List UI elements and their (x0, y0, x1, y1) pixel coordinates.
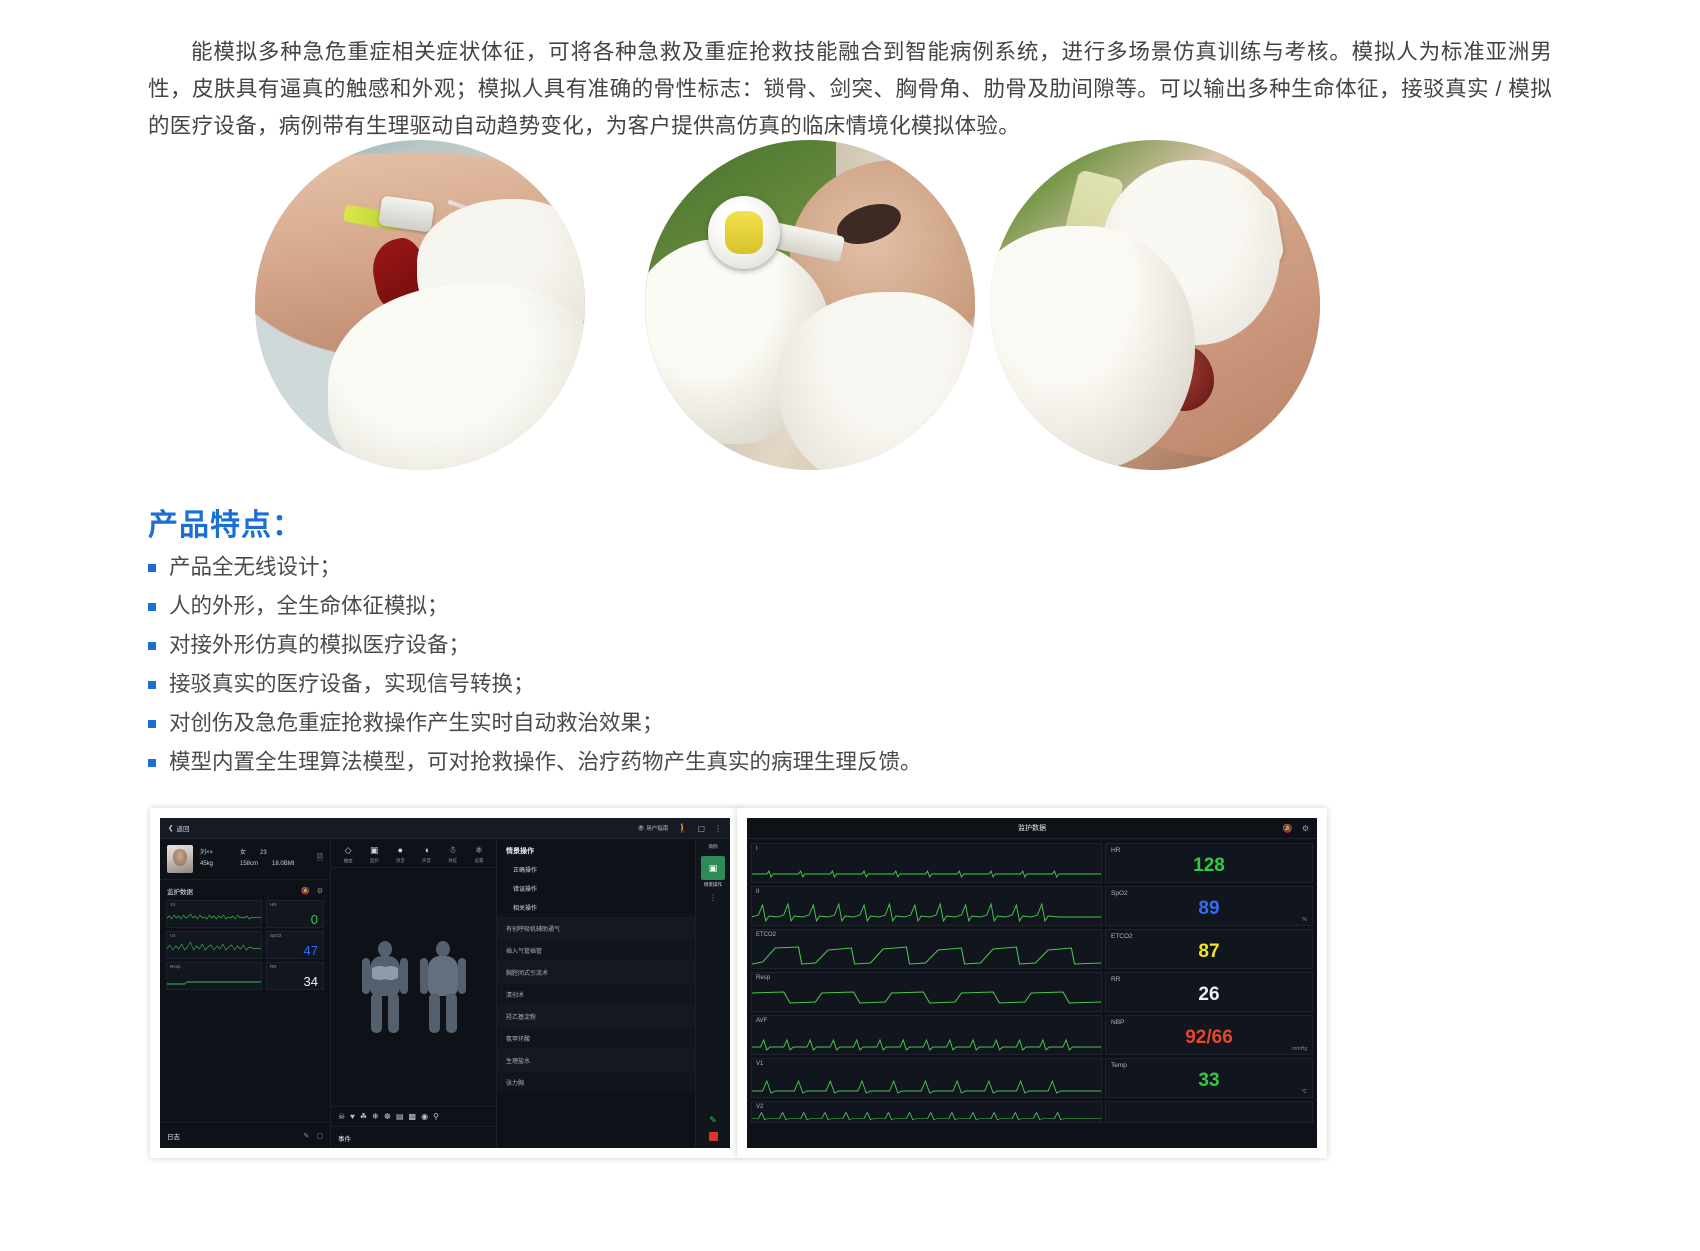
vital-value: 0 (311, 912, 318, 927)
vitals-row: V1 HR 0 (166, 900, 324, 928)
vital-etco2: ETCO2 87 (1105, 929, 1313, 969)
monitor-header: 监护数据 🔕 ⚙ (747, 818, 1317, 839)
tool-button[interactable]: ⚛ 设置 (468, 846, 490, 864)
feature-text: 对接外形仿真的模拟医疗设备； (169, 626, 470, 665)
vital-rr: RR 34 (266, 962, 324, 990)
feature-item: 对创伤及急危重症抢救操作产生实时自动救治效果； (148, 704, 1048, 743)
organ-icon[interactable]: ☸ (384, 1112, 391, 1121)
tool-label: 声音 (422, 858, 431, 864)
operation-item[interactable]: 羟乙基淀粉 (497, 1005, 695, 1027)
left-app-screen: ❮ 返回 ? 用户指南 🚶 ▢ ⋮ (160, 818, 730, 1148)
waveform-lead-i: I (751, 843, 1102, 883)
skull-icon[interactable]: ☠ (338, 1112, 345, 1121)
gear2-icon: ⚛ (475, 846, 483, 855)
patient-avatar (167, 845, 193, 873)
bullet-icon (148, 720, 156, 728)
monitor-row: Resp RR 26 (751, 972, 1313, 1012)
tablet-icon[interactable]: ▢ (697, 824, 705, 833)
lung-icon[interactable]: ☘ (360, 1112, 367, 1121)
waveform-v2: V2 (166, 931, 262, 959)
waveform-lead-ii: II (751, 886, 1102, 926)
nerve-icon[interactable]: ⚲ (433, 1112, 439, 1121)
bell-off-icon[interactable]: 🔕 (301, 887, 310, 895)
feature-item: 对接外形仿真的模拟医疗设备； (148, 626, 1048, 665)
edit-green-icon[interactable]: ✎ (696, 1115, 730, 1126)
organ-icon-row: ☠ ♥ ☘ ❄ ☸ ▤ ▩ ◉ ⚲ (331, 1106, 496, 1126)
intro-paragraph: 能模拟多种急危重症相关症状体征，可将各种急救及重症抢救技能融合到智能病例系统，进… (148, 34, 1552, 145)
vital-unit: ℃ (1301, 1089, 1307, 1095)
scenario-group-related[interactable]: 相关操作 (497, 898, 695, 917)
manikin-icon[interactable]: 🚶 (677, 823, 688, 834)
tool-button[interactable]: ◖ 声音 (416, 846, 438, 864)
eye-icon[interactable]: ◉ (421, 1112, 428, 1121)
feature-item: 接驳真实的医疗设备，实现信号转换； (148, 665, 1048, 704)
feature-item: 人的外形，全生命体征模拟； (148, 587, 1048, 626)
vital-label: SpO2 (270, 933, 282, 938)
user-guide-label: 用户指南 (646, 824, 668, 832)
expand-icon[interactable]: ▢ (316, 1132, 323, 1140)
feature-item: 模型内置全生理算法模型，可对抢救操作、治疗药物产生真实的病理生理反馈。 (148, 743, 1048, 782)
more-vertical-icon[interactable]: ⋮ (696, 893, 730, 902)
mic-icon: ● (398, 846, 403, 855)
patient-age: 23 (260, 848, 267, 859)
heart-icon[interactable]: ♥ (350, 1112, 355, 1121)
monitor-section-title: 监护数据 (167, 886, 193, 896)
photo-gallery (255, 140, 1445, 480)
monitor-row: I HR 128 (751, 843, 1313, 883)
vital-rr: RR 26 (1105, 972, 1313, 1012)
anatomy-figure-body[interactable] (420, 941, 466, 1033)
monitor-row: V2 (751, 1101, 1313, 1123)
monitor-row: ETCO2 ETCO2 87 (751, 929, 1313, 969)
body-figures[interactable] (331, 868, 496, 1106)
waveform-avf: AVF (751, 1015, 1102, 1055)
anatomy-figure-organs[interactable] (362, 941, 408, 1033)
patient-name: 刘×× (200, 848, 226, 859)
waveform-v2: V2 (751, 1101, 1102, 1123)
vital-spo2: SpO2 47 (266, 931, 324, 959)
question-icon: ? (638, 825, 644, 831)
speaker-icon: ◖ (424, 846, 429, 855)
tool-label: 监护 (370, 858, 379, 864)
vital-value: 87 (1106, 940, 1312, 964)
event-section-title: 事件 (331, 1126, 496, 1148)
operation-item[interactable]: 有创呼吸机辅助通气 (497, 917, 695, 939)
tool-label: 设置 (474, 858, 483, 864)
operation-item[interactable]: 张力胸 (497, 1071, 695, 1093)
vital-value: 92/66 (1106, 1026, 1312, 1050)
feature-item: 产品全无线设计； (148, 548, 1048, 587)
right-rail: 病例 ▣ 情景操作 ⋮ ✎ (695, 839, 730, 1148)
scenario-icon[interactable]: ▣ (701, 856, 725, 880)
product-page: 能模拟多种急危重症相关症状体征，可将各种急救及重症抢救技能融合到智能病例系统，进… (0, 0, 1700, 1251)
back-label: 返回 (176, 823, 189, 833)
monitor-row: AVF NBP 92/66 mmHg (751, 1015, 1313, 1055)
waveform-etco2: ETCO2 (751, 929, 1102, 969)
chevron-left-icon: ❮ (168, 824, 173, 832)
body-column: ◇ 抽血 ▣ 监护 ● 语音 ◖ 声音 (331, 839, 497, 1148)
tool-button[interactable]: ☃ 体征 (442, 846, 464, 864)
monitor-section-header: 监护数据 🔕 ⚙ (160, 880, 330, 900)
gear-icon[interactable]: ⚙ (1302, 824, 1309, 833)
operation-item[interactable]: 生理盐水 (497, 1049, 695, 1071)
central-venous-catheter-photo (255, 140, 585, 470)
vital-label: HR (270, 902, 277, 907)
scenario-group-wrong[interactable]: 错误操作 (497, 879, 695, 898)
patient-monitor-screenshot: 监护数据 🔕 ⚙ I HR 128 (737, 808, 1327, 1158)
vital-value: 26 (1106, 983, 1312, 1007)
bullet-icon (148, 603, 156, 611)
app-topbar: ❮ 返回 ? 用户指南 🚶 ▢ ⋮ (160, 818, 730, 839)
tool-label: 抽血 (344, 858, 353, 864)
vital-label: SpO2 (1111, 890, 1128, 897)
scenario-column: 情景操作 正确操作 错误操作 相关操作 有创呼吸机辅助通气 插入气管插管 胸腔闭… (497, 839, 730, 1148)
vitals-grid: V1 HR 0 V2 (160, 900, 330, 990)
vital-hr: HR 128 (1105, 843, 1313, 883)
operation-item[interactable]: 胸腔闭式引流术 (497, 961, 695, 983)
features-list: 产品全无线设计； 人的外形，全生命体征模拟； 对接外形仿真的模拟医疗设备； 接驳… (148, 548, 1048, 782)
bell-off-icon[interactable]: 🔕 (1283, 824, 1293, 833)
vital-spo2: SpO2 89 % (1105, 886, 1313, 926)
edit-icon[interactable]: ✎ (304, 1132, 310, 1140)
vital-label: RR (1111, 976, 1120, 983)
vital-temp: Temp 33 ℃ (1105, 1058, 1313, 1098)
scenario-title: 情景操作 (497, 839, 695, 860)
vitals-row: V2 SpO2 47 (166, 931, 324, 959)
vital-value: 89 (1106, 897, 1312, 921)
features-title: 产品特点： (148, 500, 303, 544)
tool-label: 语音 (396, 858, 405, 864)
waveform-resp: Resp (751, 972, 1102, 1012)
bullet-icon (148, 681, 156, 689)
vital-label: Temp (1111, 1062, 1127, 1069)
simulation-software-screenshot: ❮ 返回 ? 用户指南 🚶 ▢ ⋮ (150, 808, 740, 1158)
record-icon[interactable]: 🗎 (317, 852, 323, 866)
kidney-icon[interactable]: ▩ (409, 1112, 417, 1121)
vital-value: 33 (1106, 1069, 1312, 1093)
rail-active-label: 情景操作 (696, 882, 730, 888)
vital-label: HR (1111, 847, 1120, 854)
tool-label: 体征 (448, 858, 457, 864)
back-button[interactable]: ❮ 返回 (168, 823, 189, 833)
more-icon[interactable]: ⋮ (714, 824, 722, 833)
operation-item[interactable]: 清创术 (497, 983, 695, 1005)
vital-value: 34 (304, 974, 318, 989)
patient-gender: 女 (240, 848, 246, 859)
user-guide-button[interactable]: ? 用户指南 (638, 824, 669, 832)
bullet-icon (148, 759, 156, 767)
vital-label: NBP (1111, 1019, 1124, 1026)
waveform-v1: V1 (166, 900, 262, 928)
bullet-icon (148, 642, 156, 650)
vital-blank (1105, 1101, 1313, 1123)
tool-button[interactable]: ● 语音 (389, 846, 411, 864)
wound-care-photo (990, 140, 1320, 470)
vital-value: 47 (304, 943, 318, 958)
log-title: 日志 (167, 1131, 180, 1141)
waveform-resp: Resp (166, 962, 262, 990)
log-section-header: 日志 ✎ ▢ (160, 1122, 330, 1148)
patient-bmi: 18.0BMI (272, 859, 294, 870)
monitor-screen: 监护数据 🔕 ⚙ I HR 128 (747, 818, 1317, 1148)
feature-text: 模型内置全生理算法模型，可对抢救操作、治疗药物产生真实的病理生理反馈。 (169, 743, 922, 782)
drop-icon: ◇ (345, 846, 352, 855)
tool-button[interactable]: ◇ 抽血 (337, 846, 359, 864)
operation-item[interactable]: 插入气管插管 (497, 939, 695, 961)
monitor-row: V1 Temp 33 ℃ (751, 1058, 1313, 1098)
rail-top-label: 病例 (696, 839, 730, 850)
scenario-list: 情景操作 正确操作 错误操作 相关操作 有创呼吸机辅助通气 插入气管插管 胸腔闭… (497, 839, 695, 1148)
operation-item[interactable]: 氨甲环酸 (497, 1027, 695, 1049)
tool-button[interactable]: ▣ 监护 (363, 846, 385, 864)
vital-label: RR (270, 964, 277, 969)
feature-text: 对创伤及急危重症抢救操作产生实时自动救治效果； (169, 704, 664, 743)
vital-hr: HR 0 (266, 900, 324, 928)
vitals-row: Resp RR 34 (166, 962, 324, 990)
bone-icon[interactable]: ▤ (396, 1112, 404, 1121)
vital-label: ETCO2 (1111, 933, 1133, 940)
drop2-icon[interactable]: ❄ (372, 1112, 379, 1121)
waveform-v1: V1 (751, 1058, 1102, 1098)
monitor-title: 监护数据 (1018, 823, 1046, 833)
vital-nbp: NBP 92/66 mmHg (1105, 1015, 1313, 1055)
patient-weight: 45kg (200, 859, 226, 870)
vital-unit: % (1303, 917, 1307, 923)
body-icon: ☃ (449, 846, 457, 855)
scenario-group-correct[interactable]: 正确操作 (497, 860, 695, 879)
feature-text: 人的外形，全生命体征模拟； (169, 587, 449, 626)
patient-column: 刘×× 女 23 45kg 158cm 18.0BMI 🗎 (160, 839, 331, 1148)
patient-height: 158cm (240, 859, 258, 870)
gear-icon[interactable]: ⚙ (317, 887, 323, 895)
monitor-grid: I HR 128 II SpO2 (747, 839, 1317, 1127)
monitor-row: II SpO2 89 % (751, 886, 1313, 926)
patient-card[interactable]: 刘×× 女 23 45kg 158cm 18.0BMI 🗎 (160, 839, 330, 880)
monitor-icon: ▣ (370, 846, 379, 855)
airway-device-photo (645, 140, 975, 470)
feature-text: 产品全无线设计； (169, 548, 341, 587)
vital-value: 128 (1106, 854, 1312, 878)
feature-text: 接驳真实的医疗设备，实现信号转换； (169, 665, 535, 704)
bullet-icon (148, 564, 156, 572)
stop-record-icon[interactable] (709, 1132, 718, 1141)
tool-row: ◇ 抽血 ▣ 监护 ● 语音 ◖ 声音 (331, 839, 496, 868)
vital-unit: mmHg (1292, 1046, 1307, 1052)
